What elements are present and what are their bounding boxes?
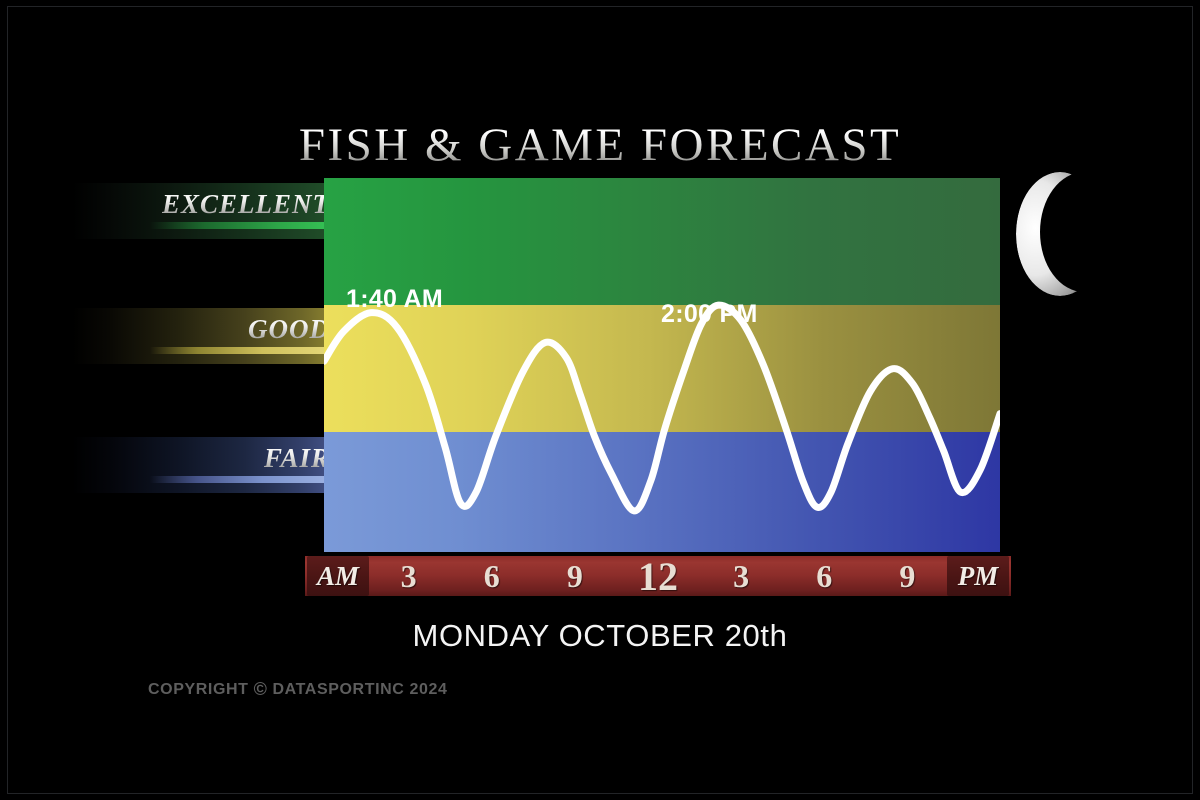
legend-item-good: GOOD xyxy=(72,308,334,364)
time-tick-am: AM xyxy=(307,556,369,596)
time-tick-3: 3 xyxy=(387,556,431,596)
copyright-suffix: DATASPORTINC 2024 xyxy=(273,681,448,698)
time-tick-3: 3 xyxy=(719,556,763,596)
copyright-symbol-icon: © xyxy=(254,679,268,699)
legend-label-good: GOOD xyxy=(248,314,330,344)
activity-curve xyxy=(324,178,1000,552)
forecast-graphic: FISH & GAME FORECAST EXCELLENT GOOD FAIR… xyxy=(0,0,1200,800)
legend-underline-excellent xyxy=(150,222,332,229)
peak-time-label-1: 1:40 AM xyxy=(346,285,443,314)
time-tick-9: 9 xyxy=(553,556,597,596)
forecast-date: MONDAY OCTOBER 20th xyxy=(0,618,1200,654)
legend-item-excellent: EXCELLENT xyxy=(72,183,334,239)
legend-item-fair: FAIR xyxy=(72,437,334,493)
time-tick-9: 9 xyxy=(885,556,929,596)
legend-label-fair: FAIR xyxy=(264,443,330,473)
time-axis: AM36912369PM xyxy=(305,556,1011,596)
copyright-prefix: COPYRIGHT xyxy=(148,681,249,698)
time-tick-pm: PM xyxy=(947,556,1009,596)
time-tick-6: 6 xyxy=(470,556,514,596)
page-title: FISH & GAME FORECAST xyxy=(0,118,1200,172)
moon-phase-icon xyxy=(1012,168,1108,300)
activity-chart: 1:40 AM 2:00 PM xyxy=(324,178,1000,552)
peak-time-label-2: 2:00 PM xyxy=(661,300,758,329)
legend-label-excellent: EXCELLENT xyxy=(162,189,330,219)
legend-underline-fair xyxy=(150,476,332,483)
legend-underline-good xyxy=(150,347,332,354)
time-tick-6: 6 xyxy=(802,556,846,596)
time-tick-12: 12 xyxy=(636,556,680,596)
copyright-notice: COPYRIGHT © DATASPORTINC 2024 xyxy=(148,679,447,700)
